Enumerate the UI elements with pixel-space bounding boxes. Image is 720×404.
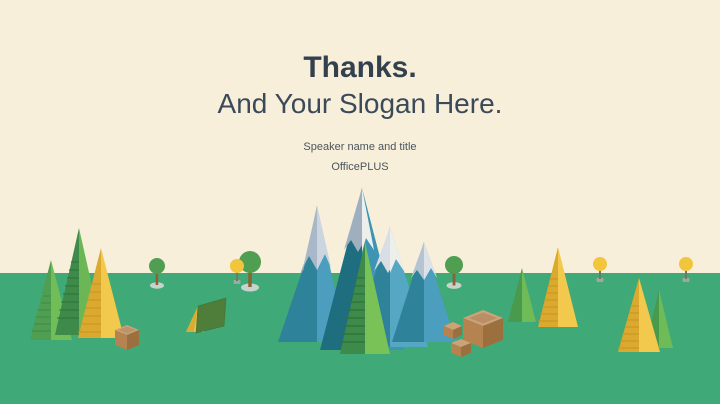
page-subtitle: And Your Slogan Here. [0, 84, 720, 120]
slide-text-block: Thanks. And Your Slogan Here. Speaker na… [0, 0, 720, 176]
speaker-name-line: Speaker name and title [0, 120, 720, 156]
organization-line: OfficePLUS [0, 156, 720, 176]
page-title: Thanks. [0, 0, 720, 84]
presentation-slide: Thanks. And Your Slogan Here. Speaker na… [0, 0, 720, 404]
crate-right-small-b [448, 336, 474, 360]
crate-left-small [110, 322, 144, 354]
